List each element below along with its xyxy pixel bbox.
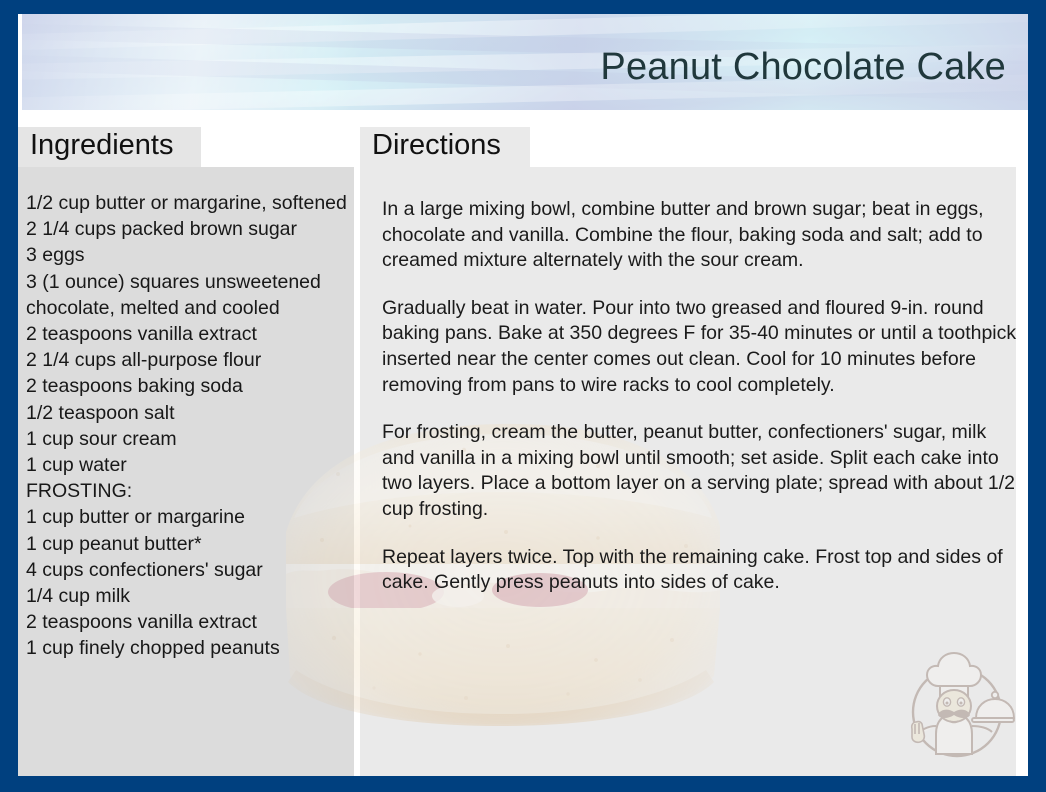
- ingredient-item: 1 cup sour cream: [26, 426, 356, 452]
- ingredient-item: 2 teaspoons vanilla extract: [26, 321, 356, 347]
- ingredient-item: 2 1/4 cups all-purpose flour: [26, 347, 356, 373]
- ingredients-header-tab: Ingredients: [18, 127, 201, 167]
- ingredients-heading: Ingredients: [30, 129, 174, 162]
- direction-paragraph: Gradually beat in water. Pour into two g…: [382, 296, 1022, 398]
- recipe-card: Peanut Chocolate Cake: [0, 0, 1046, 792]
- direction-paragraph: Repeat layers twice. Top with the remain…: [382, 545, 1022, 596]
- page-title: Peanut Chocolate Cake: [600, 46, 1006, 89]
- ingredient-item: FROSTING:: [26, 478, 356, 504]
- ingredients-list: 1/2 cup butter or margarine, softened2 1…: [26, 190, 356, 662]
- ingredient-item: 3 eggs: [26, 242, 356, 268]
- ingredient-item: 4 cups confectioners' sugar: [26, 557, 356, 583]
- directions-heading: Directions: [372, 129, 501, 162]
- direction-paragraph: For frosting, cream the butter, peanut b…: [382, 420, 1022, 522]
- ingredient-item: 1 cup finely chopped peanuts: [26, 635, 356, 661]
- ingredient-item: 1/2 cup butter or margarine, softened: [26, 190, 356, 216]
- directions-header-tab: Directions: [360, 127, 530, 167]
- ingredient-item: 2 teaspoons vanilla extract: [26, 609, 356, 635]
- ingredient-item: 1 cup peanut butter*: [26, 531, 356, 557]
- ingredient-item: 2 1/4 cups packed brown sugar: [26, 216, 356, 242]
- ingredient-item: 3 (1 ounce) squares unsweetened chocolat…: [26, 269, 356, 321]
- direction-paragraph: In a large mixing bowl, combine butter a…: [382, 197, 1022, 274]
- recipe-page: Peanut Chocolate Cake: [18, 14, 1028, 776]
- ingredient-item: 1/2 teaspoon salt: [26, 400, 356, 426]
- directions-text: In a large mixing bowl, combine butter a…: [382, 197, 1022, 596]
- ingredient-item: 1/4 cup milk: [26, 583, 356, 609]
- ingredient-item: 2 teaspoons baking soda: [26, 373, 356, 399]
- title-banner: Peanut Chocolate Cake: [22, 14, 1028, 110]
- ingredient-item: 1 cup butter or margarine: [26, 504, 356, 530]
- ingredient-item: 1 cup water: [26, 452, 356, 478]
